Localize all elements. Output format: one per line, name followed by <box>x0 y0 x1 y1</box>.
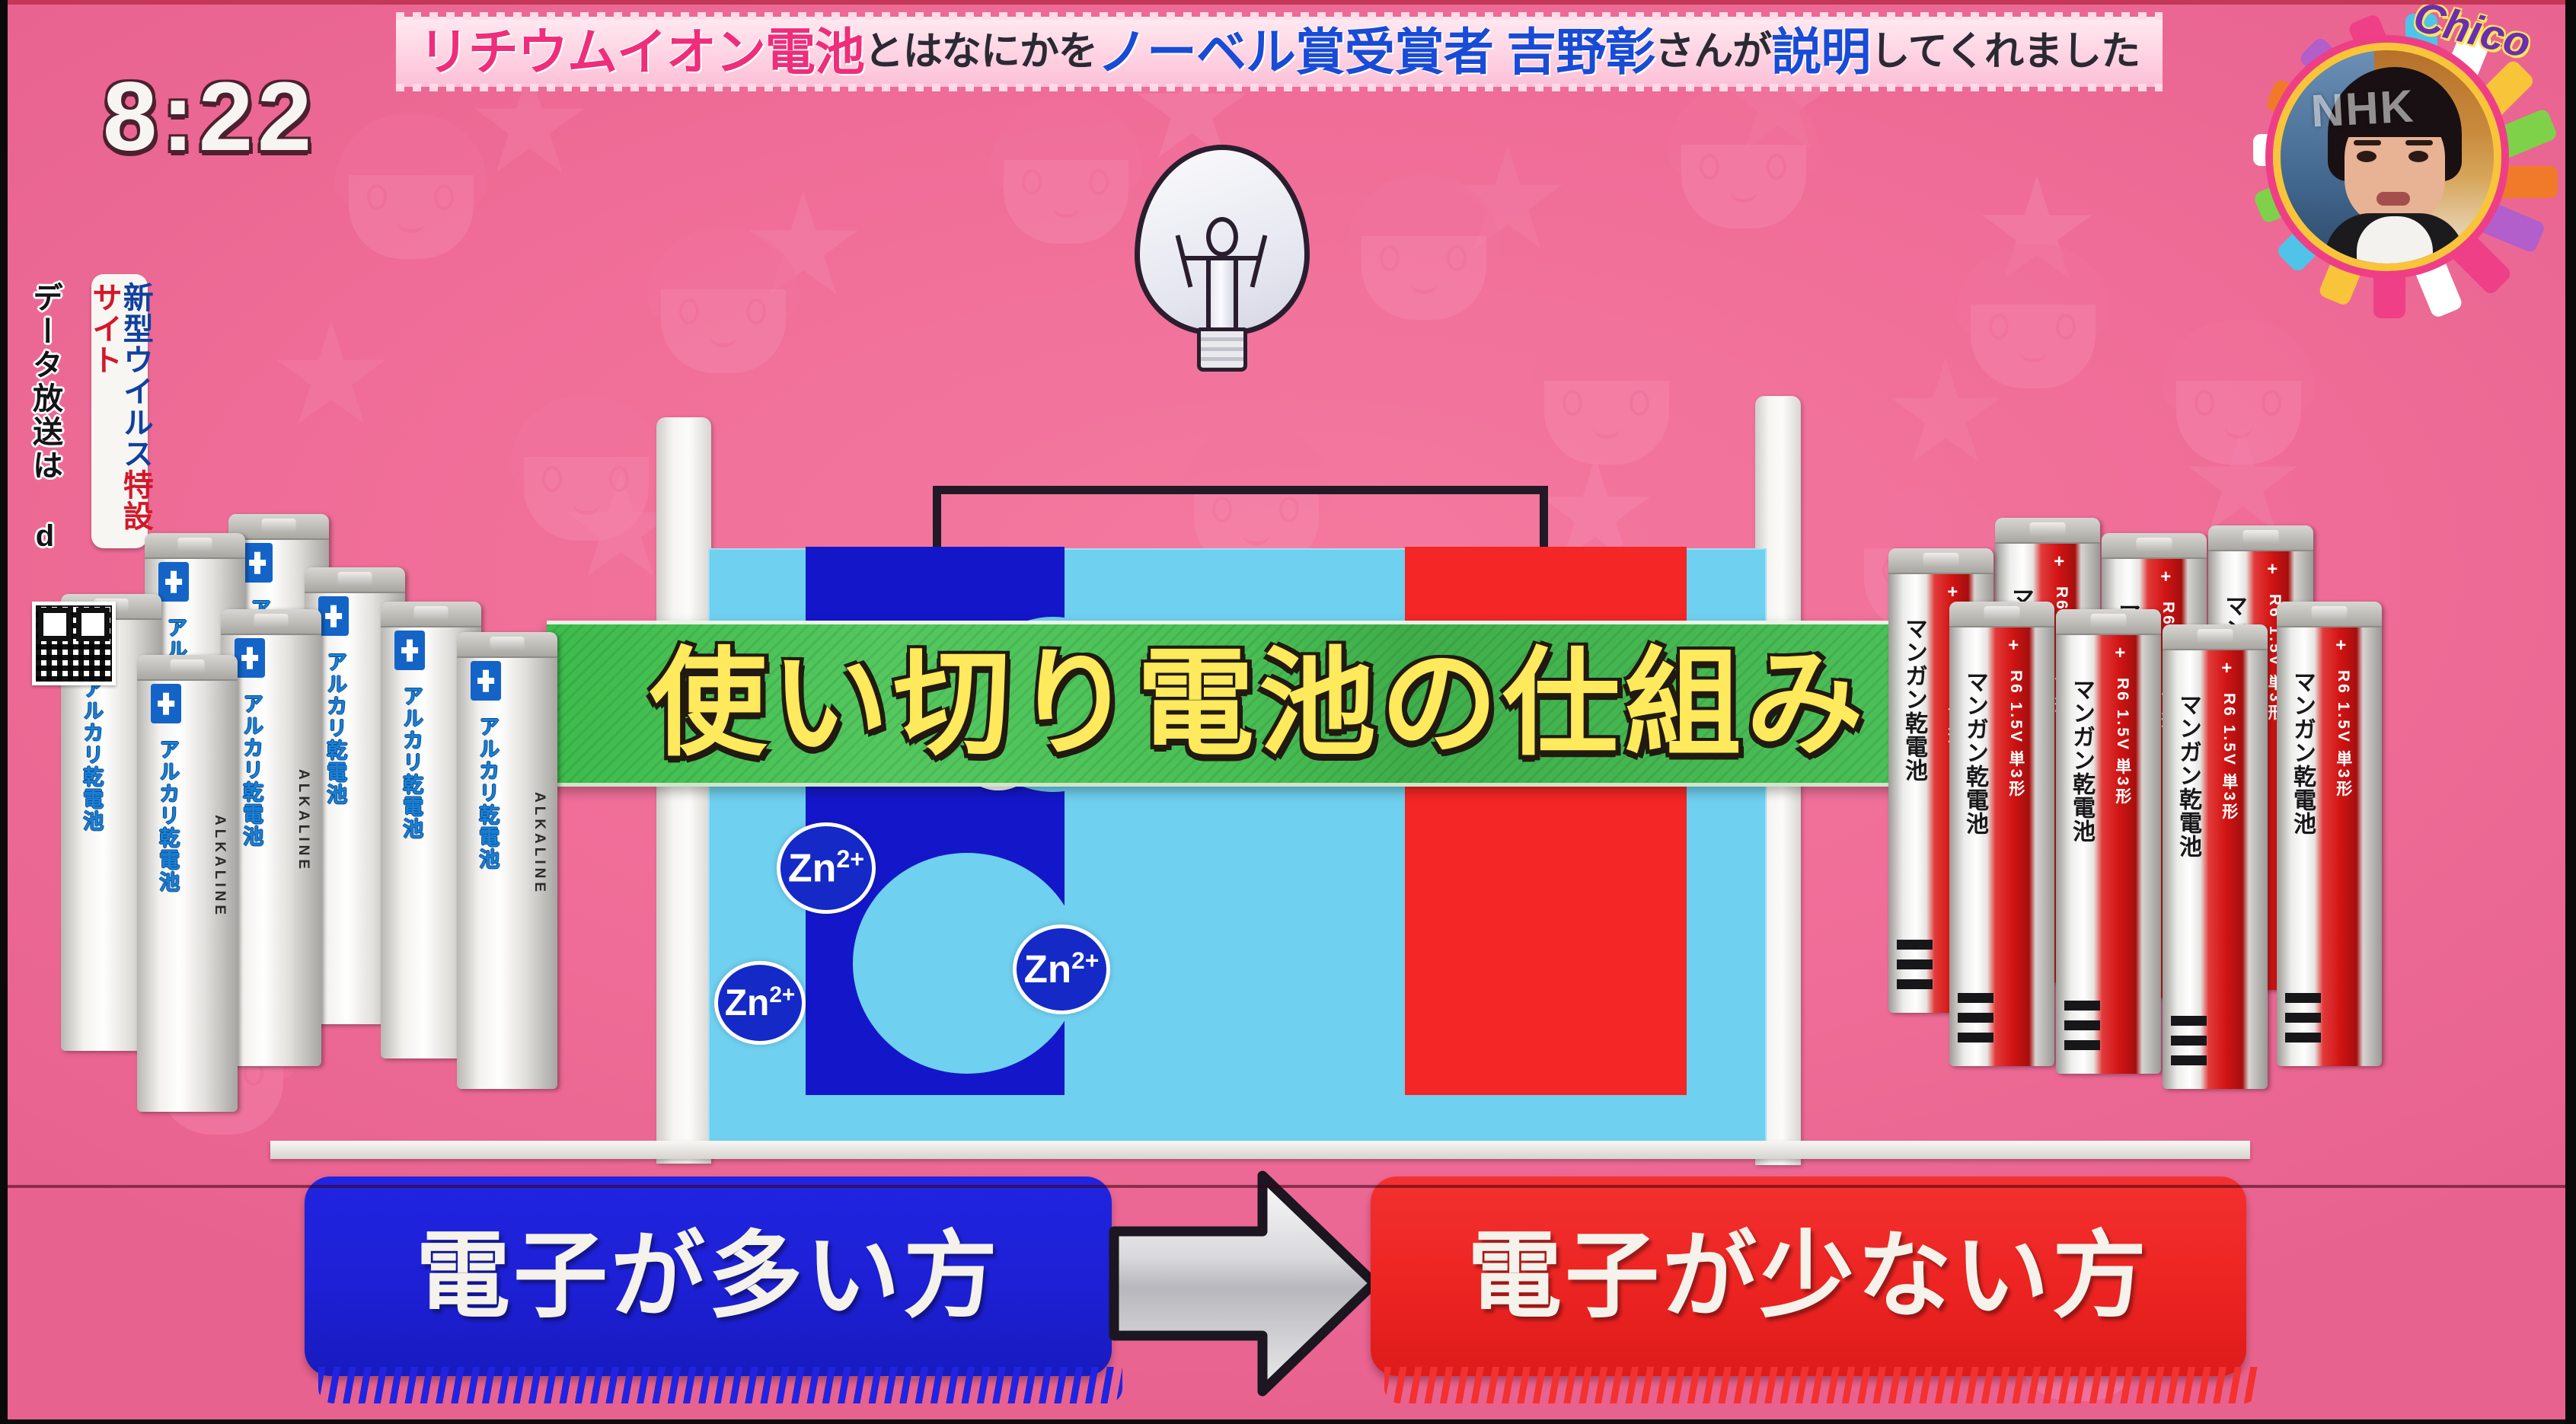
top-banner-seg-2: ノーベル賞受賞者 吉野彰 <box>1097 27 1655 77</box>
ion-bubble: Zn2+ <box>777 822 876 914</box>
battery-manganese: +マンガン乾電池R6 1.5V 単3形 <box>2277 602 2382 1066</box>
background-character <box>327 114 495 274</box>
ion-formula: Zn2+ <box>788 845 864 891</box>
battery-positive-cap <box>2277 602 2382 627</box>
background-character <box>1660 84 1827 244</box>
background-character <box>640 228 807 388</box>
avatar-mouth <box>2376 192 2410 206</box>
top-title-banner: リチウムイオン電池 とはなにかを ノーベル賞受賞者 吉野彰 さんが 説明 してく… <box>396 17 2163 87</box>
battery-positive-cap <box>2102 533 2207 559</box>
top-banner-seg-5: してくれました <box>1870 32 2140 72</box>
battery-bar-graphic <box>2171 1016 2207 1069</box>
battery-bar-graphic <box>2064 1001 2100 1054</box>
top-banner-seg-0: リチウムイオン電池 <box>419 27 864 77</box>
bulb-filament-loop <box>1206 217 1238 257</box>
battery-type-en: ALKALINE <box>211 815 228 918</box>
light-bulb-icon <box>1135 145 1310 373</box>
battery-positive-cap <box>137 655 238 681</box>
screen-edge-left <box>0 0 8 1424</box>
virus-site-label-line1: 新型ウイルス <box>119 282 152 469</box>
battery-type-jp: アルカリ乾電池 <box>77 678 107 832</box>
battery-polarity-mark: + <box>2054 551 2064 573</box>
battery-positive-cap <box>1949 602 2054 627</box>
background-character <box>982 99 1150 259</box>
label-more-electrons: 電子が多い方 <box>305 1177 1112 1376</box>
battery-type-en: ALKALINE <box>295 769 311 873</box>
label-fewer-electrons: 電子が少ない方 <box>1371 1177 2246 1376</box>
battery-type-jp: アルカリ乾電池 <box>153 739 183 893</box>
label-more-electrons-text: 電子が多い方 <box>416 1229 1001 1323</box>
battery-positive-cap <box>145 533 245 559</box>
ion-charge: 2+ <box>836 845 864 873</box>
battery-positive-cap <box>221 609 321 635</box>
battery-bar-graphic <box>1897 940 1933 993</box>
battery-polarity-mark: + <box>2221 658 2232 679</box>
circuit-wire-left <box>933 486 941 554</box>
avatar-eye-left <box>2357 151 2376 162</box>
battery-bar-graphic <box>2285 993 2321 1046</box>
battery-type-jp: アルカリ乾電池 <box>321 651 350 806</box>
avatar-eye-right <box>2408 151 2428 162</box>
battery-alkaline: アルカリ乾電池ALKALINE <box>457 632 557 1089</box>
background-character <box>1340 175 1508 335</box>
presenter-avatar <box>2273 43 2501 271</box>
battery-positive-cap <box>1995 518 2100 544</box>
battery-type-jp: マンガン乾電池 <box>1958 670 1991 835</box>
battery-plus-badge <box>151 684 181 723</box>
top-banner-seg-1: とはなにかを <box>864 32 1097 72</box>
circuit-wire-top <box>933 486 1548 494</box>
battery-polarity-mark: + <box>1947 582 1958 603</box>
battery-type-en: ALKALINE <box>531 792 547 896</box>
battery-plus-badge <box>394 631 425 670</box>
avatar-eyebrow-left <box>2354 140 2381 145</box>
battery-bar-graphic <box>1958 993 1993 1046</box>
battery-positive-cap <box>2163 624 2268 650</box>
battery-type-jp: アルカリ乾電池 <box>237 693 267 848</box>
ion-formula: Zn2+ <box>1024 947 1100 991</box>
battery-plus-badge <box>158 562 189 602</box>
battery-positive-cap <box>1888 548 1993 574</box>
ion-bubble: Zn2+ <box>1013 924 1110 1014</box>
nhk-watermark: NHK <box>2309 79 2415 137</box>
screen-edge-top <box>0 0 2576 5</box>
circuit-wire-right <box>1540 486 1548 554</box>
battery-type-jp: マンガン乾電池 <box>2064 678 2098 843</box>
battery-polarity-mark: + <box>2115 643 2125 664</box>
battery-type-jp: マンガン乾電池 <box>1897 617 1930 782</box>
bulb-screw-base <box>1197 327 1247 372</box>
battery-positive-cap <box>457 632 557 658</box>
ion-bubble: Zn2+ <box>714 961 806 1045</box>
clock: 8:22 <box>103 61 316 173</box>
ion-charge: 2+ <box>1071 947 1099 974</box>
battery-polarity-mark: + <box>2008 635 2019 656</box>
background-star <box>274 320 388 434</box>
battery-manganese: +マンガン乾電池R6 1.5V 単3形 <box>2163 624 2268 1089</box>
data-broadcast-notice: データ放送は d <box>23 282 67 556</box>
battery-type-jp: アルカリ乾電池 <box>473 716 503 870</box>
top-banner-seg-3: さんが <box>1655 32 1771 72</box>
battery-manganese: +マンガン乾電池R6 1.5V 単3形 <box>1949 602 2054 1066</box>
battery-polarity-mark: + <box>2335 635 2346 656</box>
battery-type-jp: マンガン乾電池 <box>2171 693 2204 858</box>
battery-polarity-mark: + <box>2160 567 2171 588</box>
battery-spec: R6 1.5V 単3形 <box>2111 678 2134 806</box>
top-banner-seg-4: 説明 <box>1771 27 1870 77</box>
program-logo-corner: NHK Chico <box>2211 0 2568 335</box>
battery-spec: R6 1.5V 単3形 <box>2332 670 2354 798</box>
background-character <box>1523 320 1690 480</box>
background-character <box>503 396 670 556</box>
battery-alkaline: アルカリ乾電池ALKALINE <box>137 655 238 1112</box>
battery-plus-badge <box>235 638 265 678</box>
label-fewer-electrons-shadow <box>1384 1367 2258 1403</box>
screen-edge-right <box>2565 0 2576 1424</box>
page-title: 使い切り電池の仕組み <box>650 645 1868 762</box>
battery-plus-badge <box>318 596 349 636</box>
qr-code <box>32 602 116 685</box>
tv-screenshot: 8:22 リチウムイオン電池 とはなにかを ノーベル賞受賞者 吉野彰 さんが 説… <box>0 0 2576 1424</box>
battery-type-jp: マンガン乾電池 <box>2285 670 2319 835</box>
screen-seam-line <box>0 1185 2576 1188</box>
virus-site-label: 新型ウイルス特設サイト <box>91 274 148 548</box>
top-banner-text: リチウムイオン電池 とはなにかを ノーベル賞受賞者 吉野彰 さんが 説明 してく… <box>396 17 2163 87</box>
ion-formula: Zn2+ <box>725 982 796 1024</box>
label-fewer-electrons-text: 電子が少ない方 <box>1467 1229 2150 1323</box>
right-arrow-icon <box>1099 1159 1388 1410</box>
battery-plus-badge <box>242 543 273 583</box>
screen-edge-bottom <box>0 1419 2576 1424</box>
battery-positive-cap <box>381 602 481 627</box>
battery-spec: R6 1.5V 単3形 <box>2217 693 2240 821</box>
bulb-filament-bar <box>1183 256 1259 260</box>
battery-positive-cap <box>2056 609 2161 635</box>
battery-type-jp: アルカリ乾電池 <box>397 685 426 840</box>
battery-positive-cap <box>305 567 405 593</box>
avatar-eyebrow-right <box>2405 140 2433 145</box>
battery-positive-cap <box>2208 525 2313 551</box>
ion-charge: 2+ <box>769 982 795 1007</box>
battery-plus-badge <box>471 661 501 701</box>
main-title-banner: 使い切り電池の仕組み <box>547 621 1971 787</box>
stand-left <box>656 417 711 1164</box>
battery-polarity-mark: + <box>2267 559 2278 580</box>
label-more-electrons-shadow <box>318 1367 1122 1403</box>
battery-spec: R6 1.5V 単3形 <box>2004 670 2027 798</box>
battery-manganese: +マンガン乾電池R6 1.5V 単3形 <box>2056 609 2161 1074</box>
stand-crossbar <box>270 1141 2250 1159</box>
background-character <box>2155 320 2322 480</box>
background-character <box>1949 244 2117 404</box>
